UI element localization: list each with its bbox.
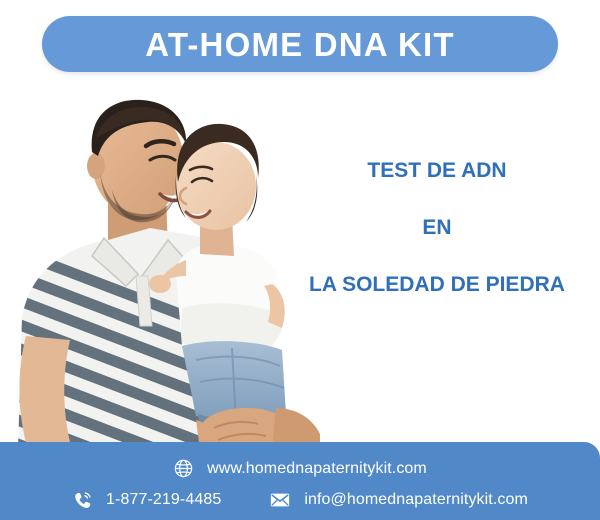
poster-root: AT-HOME DNA KIT bbox=[0, 0, 600, 520]
father-and-child-photo bbox=[0, 78, 320, 450]
phone-contact[interactable]: 1-877-219-4485 bbox=[72, 490, 221, 511]
envelope-icon bbox=[269, 489, 291, 511]
page-title: AT-HOME DNA KIT bbox=[145, 28, 454, 61]
footer-bar: www.homednapaternitykit.com 1-877-219-44… bbox=[0, 442, 600, 520]
phone-label: 1-877-219-4485 bbox=[106, 491, 221, 509]
headline-line-2: EN bbox=[277, 217, 597, 238]
phone-icon bbox=[72, 490, 93, 511]
footer-website-row[interactable]: www.homednapaternitykit.com bbox=[0, 458, 600, 479]
email-contact[interactable]: info@homednapaternitykit.com bbox=[269, 489, 528, 511]
email-label: info@homednapaternitykit.com bbox=[304, 491, 528, 509]
globe-icon bbox=[173, 458, 194, 479]
header-banner: AT-HOME DNA KIT bbox=[42, 16, 558, 72]
footer-contact-row: 1-877-219-4485 info@homednapaternitykit.… bbox=[0, 489, 600, 511]
headline-line-3: LA SOLEDAD DE PIEDRA bbox=[277, 274, 597, 295]
website-label: www.homednapaternitykit.com bbox=[207, 460, 427, 478]
headline-line-1: TEST DE ADN bbox=[277, 160, 597, 181]
headline-block: TEST DE ADN EN LA SOLEDAD DE PIEDRA bbox=[277, 160, 597, 295]
